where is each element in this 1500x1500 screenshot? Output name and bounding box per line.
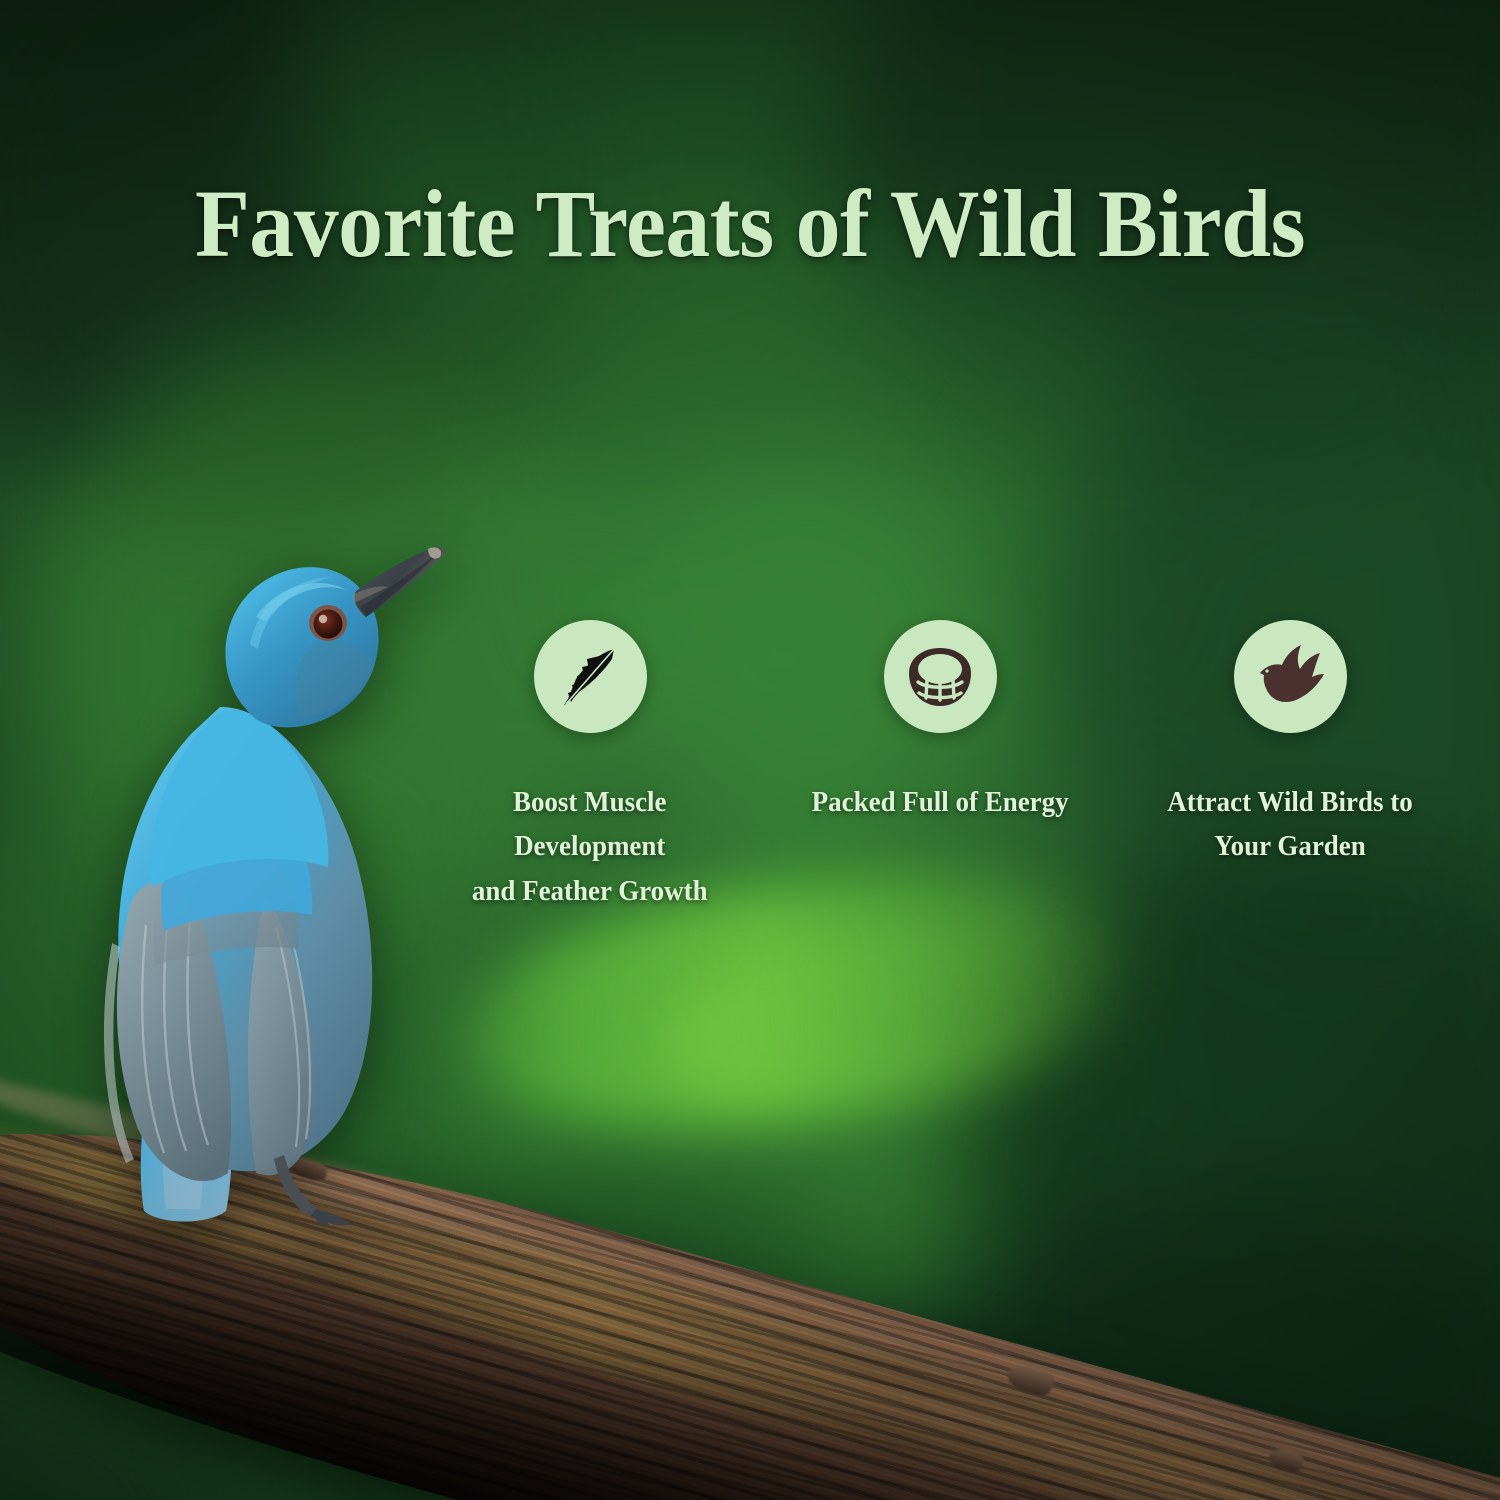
page-title: Favorite Treats of Wild Birds — [49, 176, 1452, 272]
product-feature-graphic: Favorite Treats of Wild Birds Boost Mu — [0, 0, 1500, 1500]
flying-bird-icon — [1252, 641, 1328, 713]
feature-label: Packed Full of Energy — [812, 780, 1069, 824]
feature-label: Boost Muscle Development and Feather Gro… — [472, 780, 708, 913]
feature-item-attract-birds: Attract Wild Birds to Your Garden — [1140, 620, 1440, 869]
feather-icon-badge — [534, 620, 647, 733]
feather-icon — [554, 641, 626, 713]
flying-bird-icon-badge — [1234, 620, 1347, 733]
feature-label: Attract Wild Birds to Your Garden — [1167, 780, 1412, 869]
feature-item-muscle-development: Boost Muscle Development and Feather Gro… — [440, 620, 740, 913]
suet-cake-icon — [903, 640, 977, 714]
feature-list: Boost Muscle Development and Feather Gro… — [440, 620, 1440, 913]
suet-cake-icon-badge — [884, 620, 997, 733]
feature-item-energy: Packed Full of Energy — [790, 620, 1090, 824]
